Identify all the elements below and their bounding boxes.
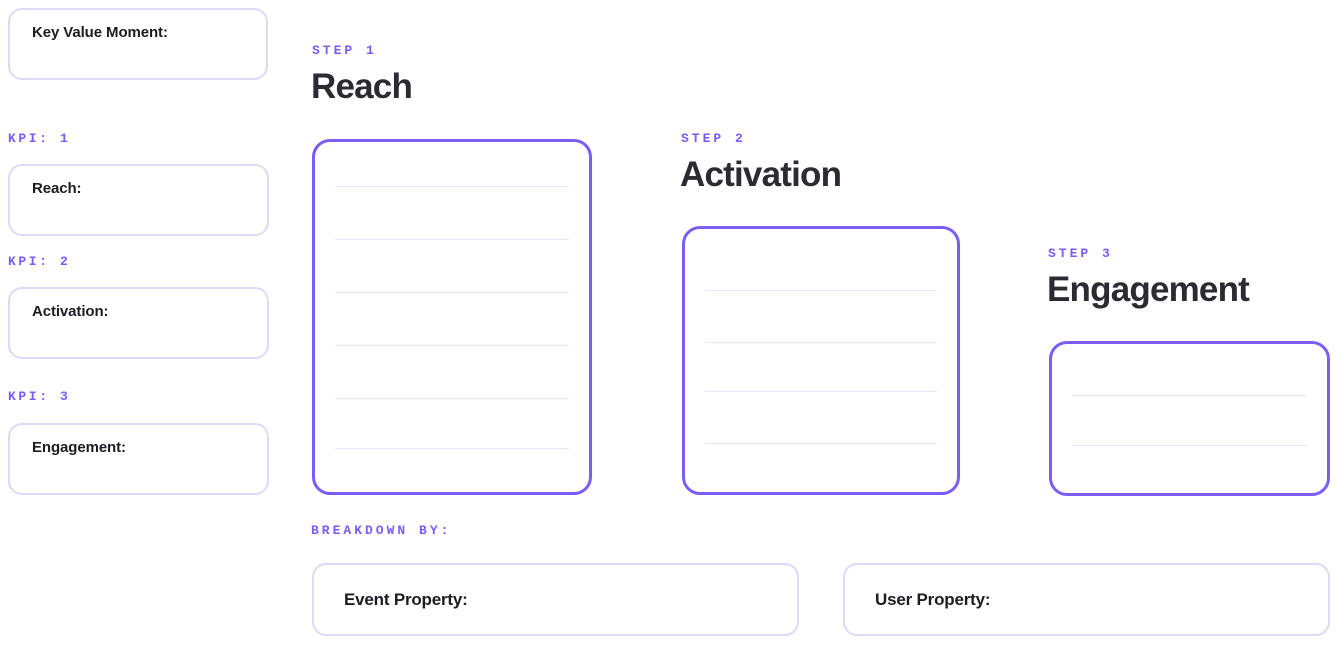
event-property-card[interactable]: Event Property: (312, 563, 799, 636)
rule-line (335, 292, 569, 293)
step-3-title: Engagement (1047, 272, 1249, 307)
key-value-moment-card[interactable]: Key Value Moment: (8, 8, 268, 80)
step-1-eyebrow: STEP 1 (312, 43, 377, 58)
kpi-2-label: Activation: (32, 303, 108, 320)
rule-line (705, 443, 937, 444)
user-property-label: User Property: (875, 590, 990, 610)
step-1-title: Reach (311, 69, 412, 104)
kpi-3-card[interactable]: Engagement: (8, 423, 269, 495)
event-property-label: Event Property: (344, 590, 468, 610)
step-2-activation-box[interactable] (682, 226, 960, 495)
kpi-1-label: Reach: (32, 180, 81, 197)
key-value-moment-label: Key Value Moment: (32, 24, 168, 41)
kpi-1-card[interactable]: Reach: (8, 164, 269, 236)
rule-line (335, 186, 569, 187)
rule-line (705, 342, 937, 343)
breakdown-by-eyebrow: BREAKDOWN BY: (311, 523, 451, 538)
step-3-engagement-box[interactable] (1049, 341, 1330, 496)
rule-line (335, 398, 569, 399)
step-2-title: Activation (680, 157, 841, 192)
kpi-2-eyebrow: KPI: 2 (8, 254, 70, 269)
rule-line (1072, 445, 1307, 446)
step-2-eyebrow: STEP 2 (681, 131, 746, 146)
rule-line (705, 290, 937, 291)
kpi-1-eyebrow: KPI: 1 (8, 131, 70, 146)
kpi-3-eyebrow: KPI: 3 (8, 389, 70, 404)
rule-line (335, 239, 569, 240)
kpi-3-label: Engagement: (32, 439, 126, 456)
step-1-reach-box[interactable] (312, 139, 592, 495)
rule-line (705, 391, 937, 392)
rule-line (335, 345, 569, 346)
step-3-eyebrow: STEP 3 (1048, 246, 1113, 261)
rule-line (1072, 395, 1307, 396)
rule-line (335, 448, 569, 449)
kpi-2-card[interactable]: Activation: (8, 287, 269, 359)
user-property-card[interactable]: User Property: (843, 563, 1330, 636)
